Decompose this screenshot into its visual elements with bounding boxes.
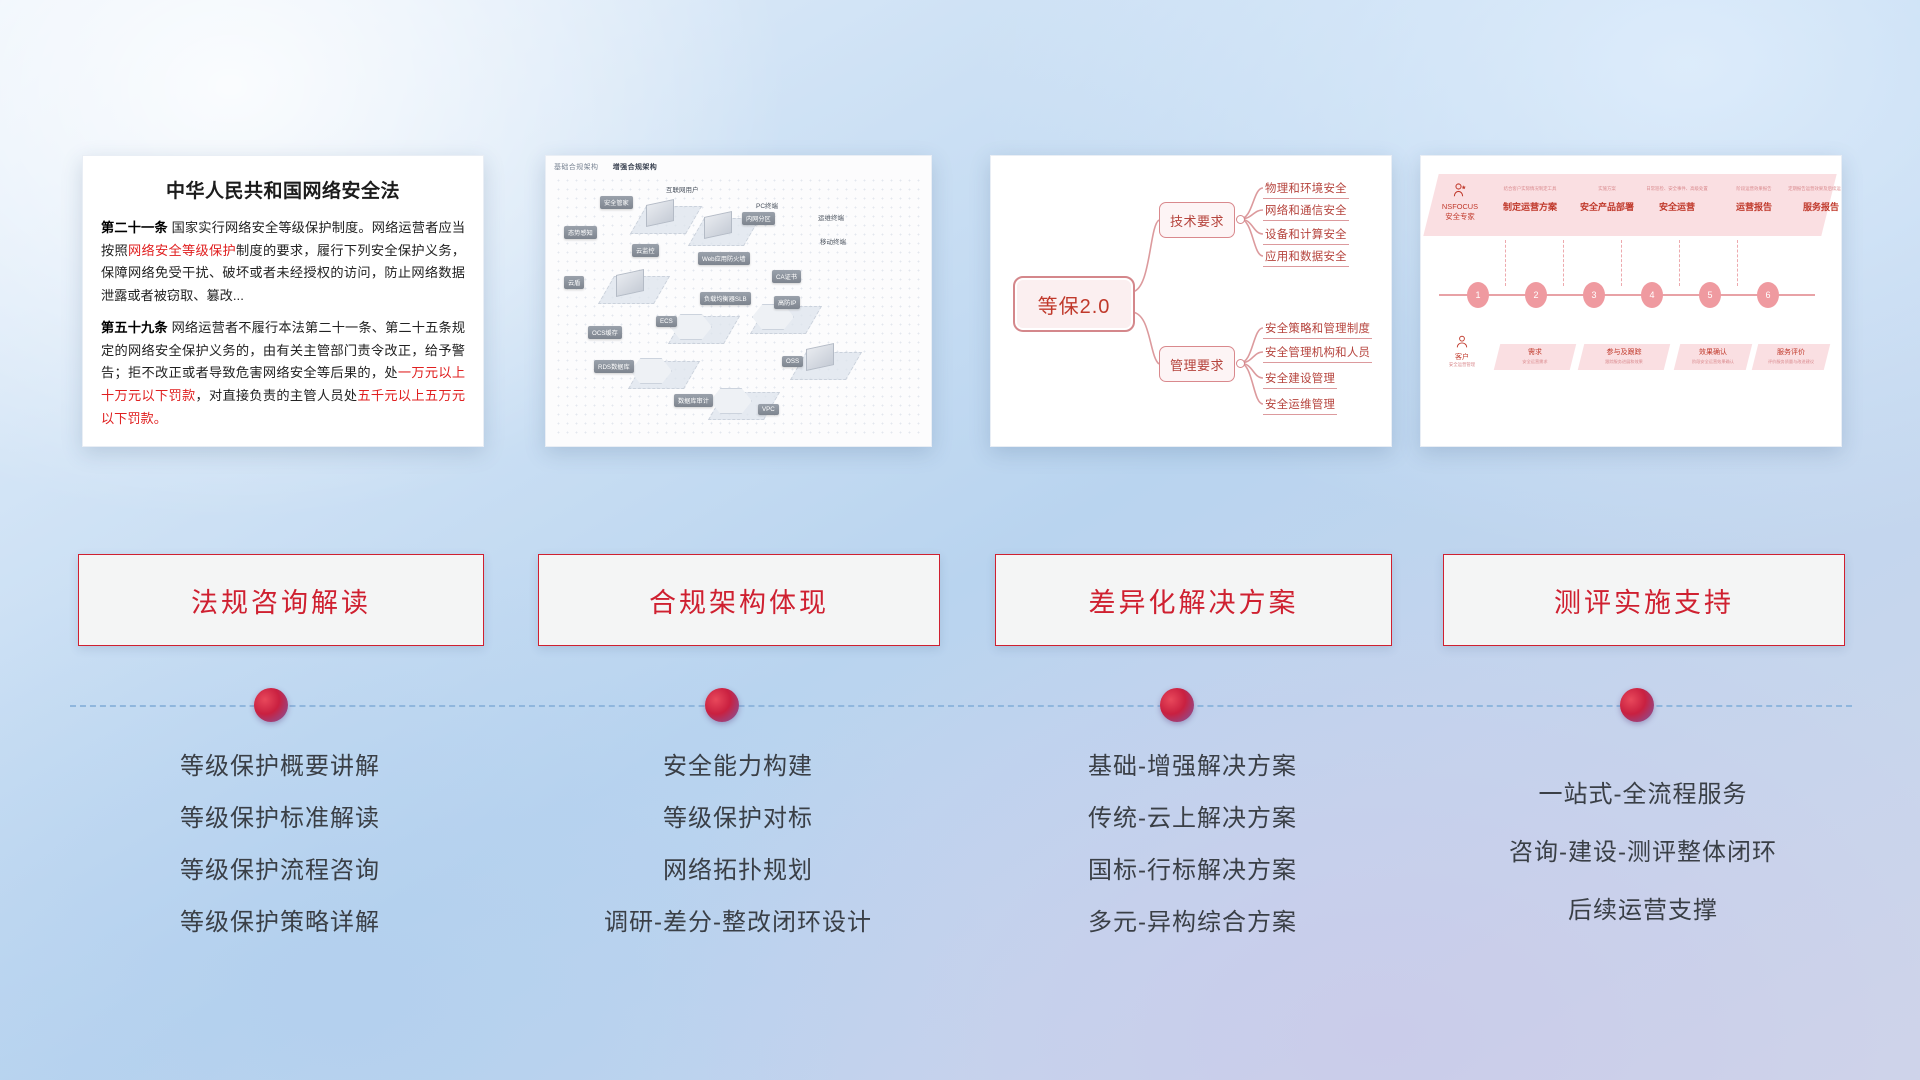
headline-label-2: 合规架构体现 xyxy=(649,581,829,620)
list-item: 网络拓扑规划 xyxy=(538,859,938,883)
timeline-node-1[interactable] xyxy=(254,688,288,722)
slide-canvas: 中华人民共和国网络安全法 第二十一条 国家实行网络安全等级保护制度。网络运营者应… xyxy=(0,0,1920,1080)
list-item: 传统-云上解决方案 xyxy=(995,807,1390,831)
list-item: 等级保护策略详解 xyxy=(78,911,482,935)
list-item: 等级保护概要讲解 xyxy=(78,755,482,779)
headline-label-3: 差异化解决方案 xyxy=(1089,581,1299,620)
list-item: 等级保护对标 xyxy=(538,807,938,831)
list-item: 国标-行标解决方案 xyxy=(995,859,1390,883)
headline-box-regulation-consulting[interactable]: 法规咨询解读 xyxy=(78,554,484,646)
list-item: 调研-差分-整改闭环设计 xyxy=(538,911,938,935)
list-item: 基础-增强解决方案 xyxy=(995,755,1390,779)
list-item: 等级保护标准解读 xyxy=(78,807,482,831)
headline-box-compliance-architecture[interactable]: 合规架构体现 xyxy=(538,554,940,646)
headline-label-1: 法规咨询解读 xyxy=(191,581,371,620)
headline-label-4: 测评实施支持 xyxy=(1554,581,1734,620)
headline-box-assessment-support[interactable]: 测评实施支持 xyxy=(1443,554,1845,646)
list-item: 咨询-建设-测评整体闭环 xyxy=(1443,841,1843,865)
detail-column-3: 基础-增强解决方案 传统-云上解决方案 国标-行标解决方案 多元-异构综合方案 xyxy=(995,755,1390,963)
timeline-node-2[interactable] xyxy=(705,688,739,722)
detail-column-1: 等级保护概要讲解 等级保护标准解读 等级保护流程咨询 等级保护策略详解 xyxy=(78,755,482,963)
timeline-dashed-line xyxy=(70,705,1852,707)
detail-column-4: 一站式-全流程服务 咨询-建设-测评整体闭环 后续运营支撑 xyxy=(1443,783,1843,957)
list-item: 一站式-全流程服务 xyxy=(1443,783,1843,807)
timeline-node-4[interactable] xyxy=(1620,688,1654,722)
headline-box-differentiated-solution[interactable]: 差异化解决方案 xyxy=(995,554,1392,646)
list-item: 安全能力构建 xyxy=(538,755,938,779)
list-item: 等级保护流程咨询 xyxy=(78,859,482,883)
timeline-node-3[interactable] xyxy=(1160,688,1194,722)
detail-column-2: 安全能力构建 等级保护对标 网络拓扑规划 调研-差分-整改闭环设计 xyxy=(538,755,938,963)
list-item: 多元-异构综合方案 xyxy=(995,911,1390,935)
list-item: 后续运营支撑 xyxy=(1443,899,1843,923)
